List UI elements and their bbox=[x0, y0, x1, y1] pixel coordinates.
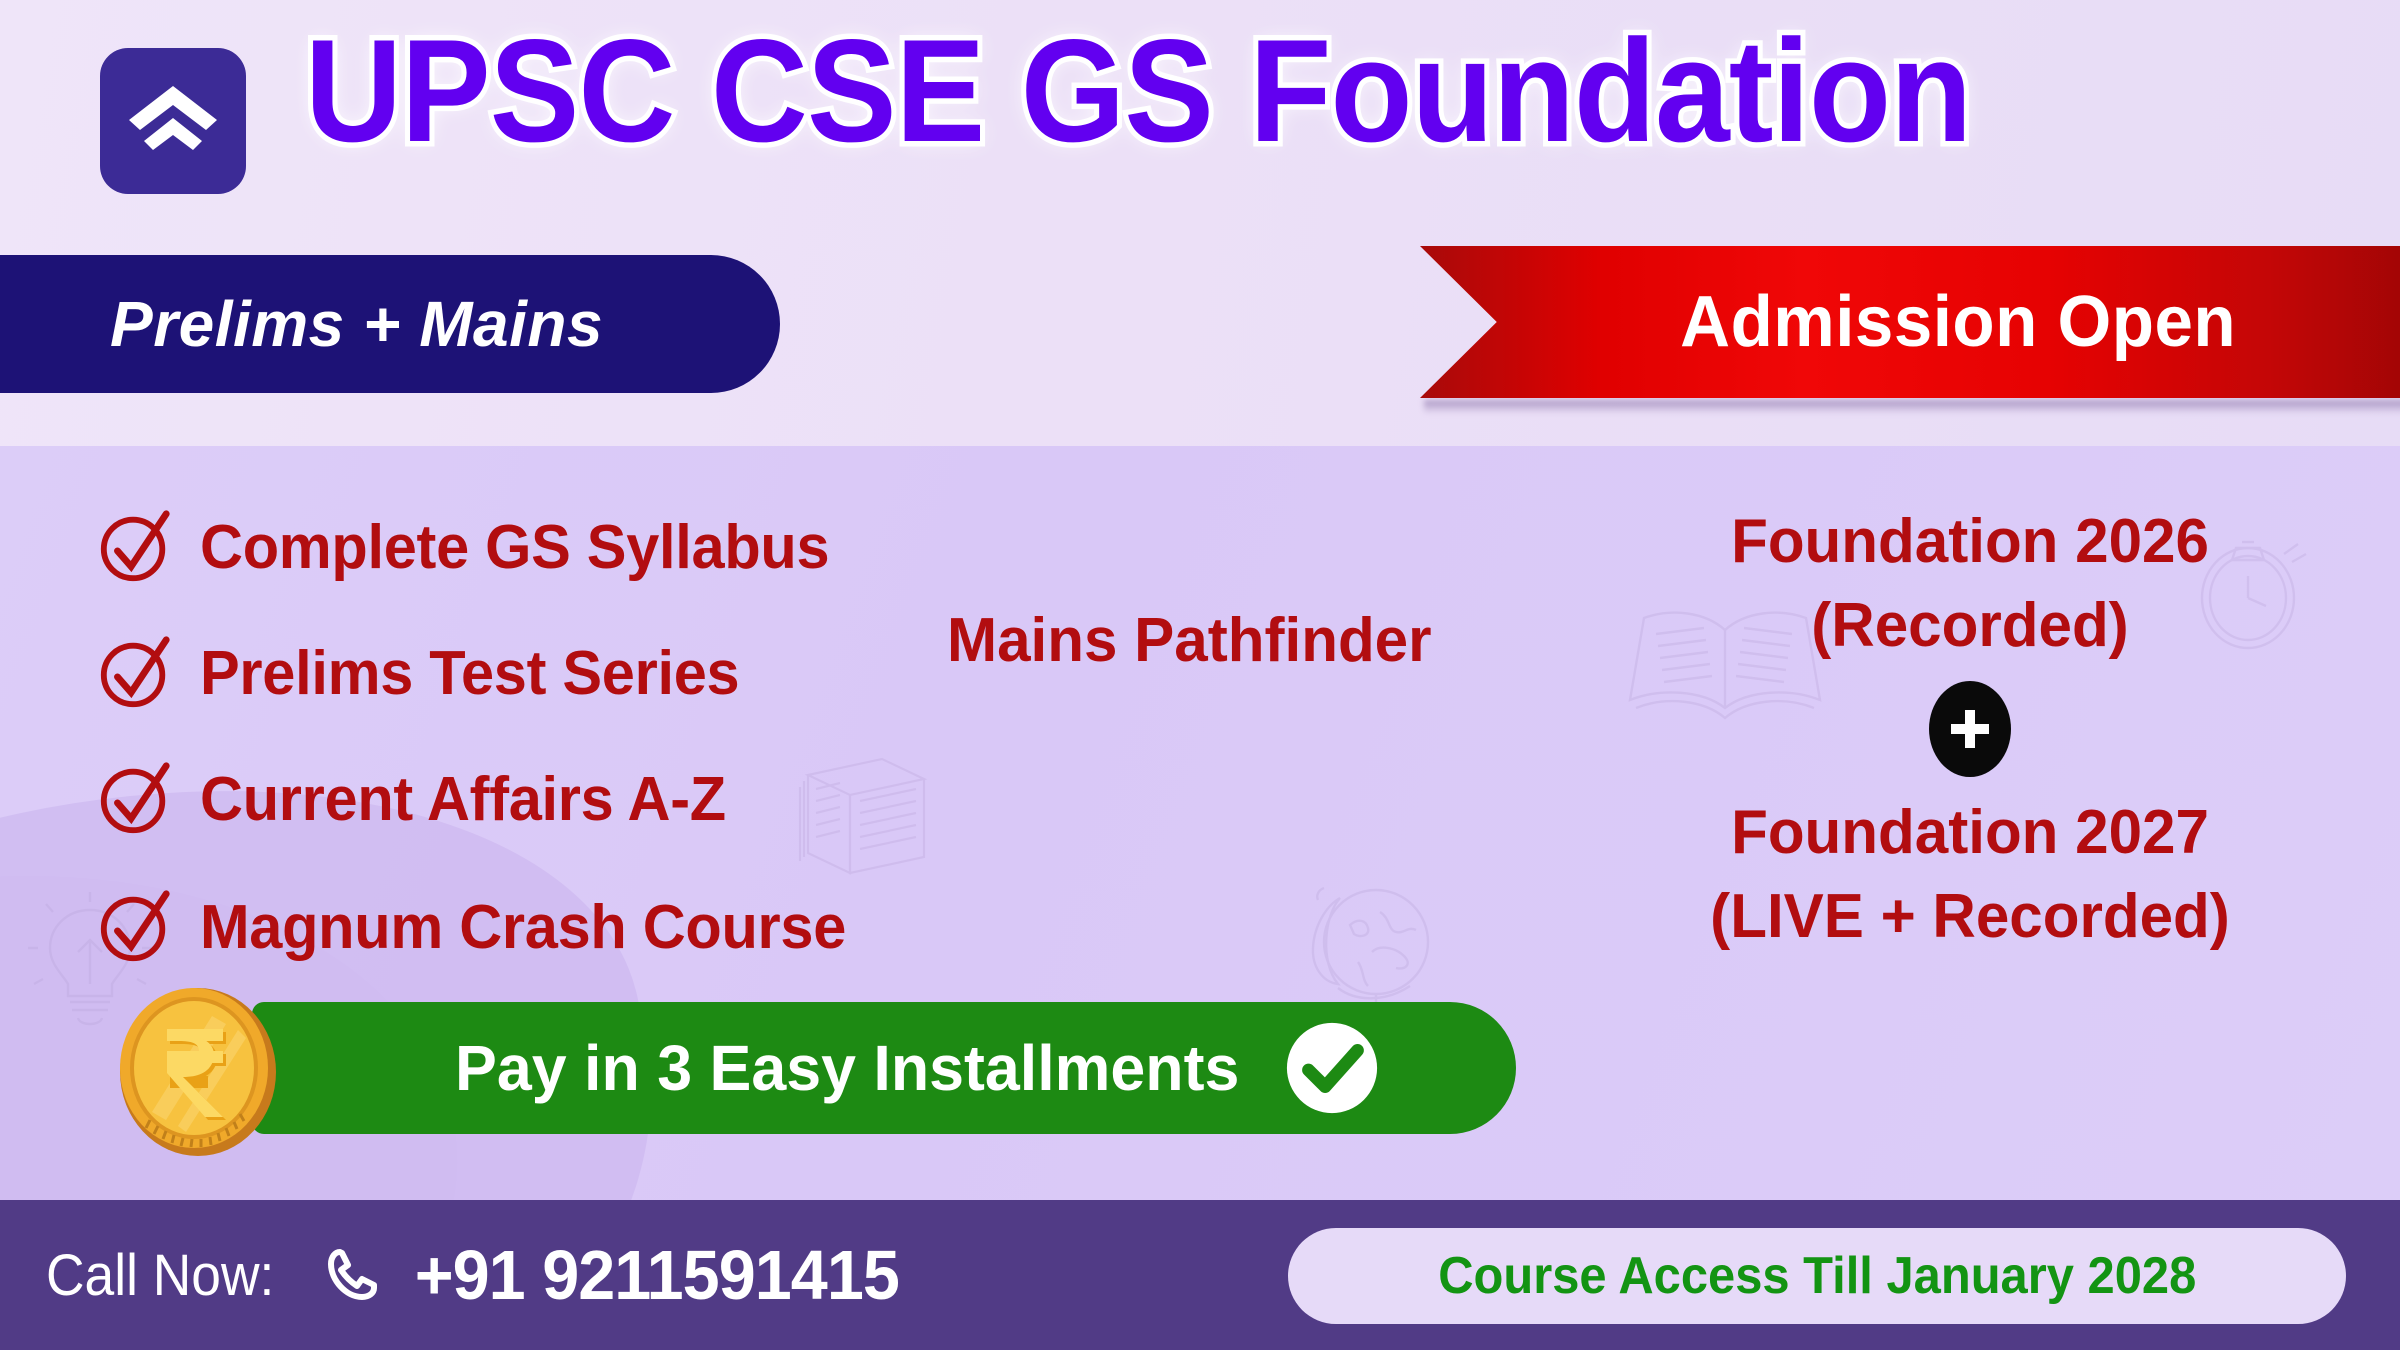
circle-check-icon bbox=[96, 888, 174, 966]
rupee-coin-icon bbox=[108, 980, 288, 1160]
feature-label: Prelims Test Series bbox=[200, 638, 739, 709]
call-now-label: Call Now: bbox=[46, 1242, 274, 1309]
phone-icon bbox=[324, 1246, 382, 1304]
phone-number[interactable]: +91 9211591415 bbox=[415, 1235, 899, 1315]
exam-scope-badge: Prelims + Mains bbox=[0, 255, 780, 393]
installment-banner: Pay in 3 Easy Installments bbox=[252, 1002, 1516, 1134]
offer-stack: Foundation 2026 (Recorded) Foundation 20… bbox=[1600, 500, 2340, 959]
promo-banner: UPSC CSE GS Foundation Prelims + Mains A… bbox=[0, 0, 2400, 1350]
installment-label: Pay in 3 Easy Installments bbox=[455, 1031, 1239, 1105]
feature-item: Prelims Test Series bbox=[96, 631, 762, 715]
offer-line-3: Foundation 2027 bbox=[1611, 791, 2329, 875]
feature-item: Magnum Crash Course bbox=[96, 885, 873, 969]
circle-check-icon bbox=[96, 634, 174, 712]
offer-line-4: (LIVE + Recorded) bbox=[1611, 875, 2329, 959]
brand-logo bbox=[100, 48, 246, 194]
course-access-badge: Course Access Till January 2028 bbox=[1288, 1228, 2346, 1324]
page-title: UPSC CSE GS Foundation bbox=[305, 18, 1971, 164]
double-chevron-up-icon bbox=[126, 80, 220, 163]
feature-item: Complete GS Syllabus bbox=[96, 505, 856, 589]
circle-check-icon bbox=[96, 760, 174, 838]
exam-scope-label: Prelims + Mains bbox=[110, 287, 603, 361]
admission-status-ribbon: Admission Open bbox=[1420, 246, 2400, 398]
feature-label: Current Affairs A-Z bbox=[200, 764, 726, 835]
ribbon-shadow bbox=[1424, 400, 2400, 414]
offer-line-1: Foundation 2026 bbox=[1611, 500, 2329, 584]
course-access-label: Course Access Till January 2028 bbox=[1438, 1246, 2196, 1306]
admission-status-label: Admission Open bbox=[1613, 281, 2236, 363]
call-now-group[interactable]: Call Now: +91 9211591415 bbox=[46, 1235, 912, 1315]
circle-check-icon bbox=[96, 508, 174, 586]
feature-label: Complete GS Syllabus bbox=[200, 512, 829, 583]
check-circle-icon bbox=[1283, 1019, 1381, 1117]
mains-pathfinder-label: Mains Pathfinder bbox=[947, 605, 1432, 676]
offer-line-2: (Recorded) bbox=[1611, 584, 2329, 668]
feature-item: Current Affairs A-Z bbox=[96, 757, 748, 841]
plus-badge-icon bbox=[1929, 681, 2011, 777]
feature-label: Magnum Crash Course bbox=[200, 892, 846, 963]
